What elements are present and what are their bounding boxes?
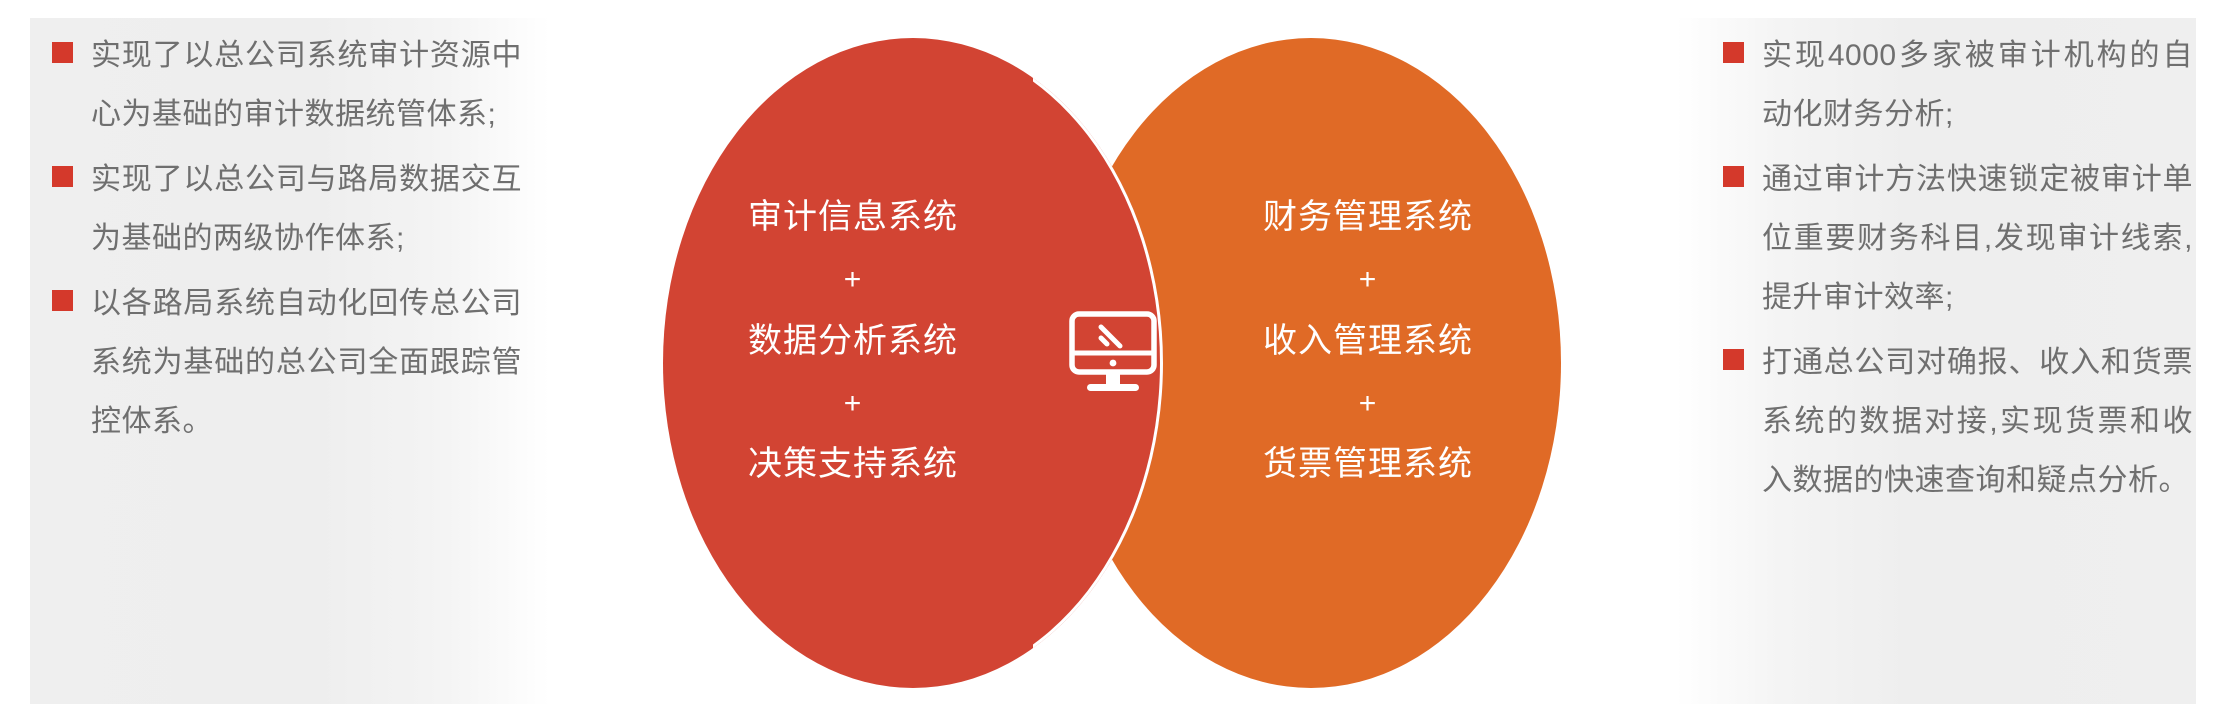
bullet-square-icon <box>52 166 73 187</box>
right-circle-line-1: 财务管理系统 <box>1263 198 1473 236</box>
left-circle-line-1: 审计信息系统 <box>748 198 958 236</box>
bullet-square-icon <box>52 42 73 63</box>
right-circle-label: 财务管理系统 + 收入管理系统 + 货票管理系统 <box>1158 198 1578 484</box>
plus-separator: + <box>643 263 1063 298</box>
plus-separator: + <box>643 387 1063 422</box>
bullet-text: 实现了以总公司系统审计资源中心为基础的审计数据统管体系; <box>91 26 522 144</box>
bullet-square-icon <box>1723 166 1744 187</box>
list-item: 打通总公司对确报、收入和货票系统的数据对接,实现货票和收入数据的快速查询和疑点分… <box>1723 333 2193 510</box>
bullet-text: 通过审计方法快速锁定被审计单位重要财务科目,发现审计线索,提升审计效率; <box>1762 150 2193 327</box>
left-circle-line-3: 决策支持系统 <box>748 445 958 483</box>
list-item: 实现4000多家被审计机构的自动化财务分析; <box>1723 26 2193 144</box>
left-bullet-list: 实现了以总公司系统审计资源中心为基础的审计数据统管体系; 实现了以总公司与路局数… <box>52 26 522 706</box>
right-circle-line-3: 货票管理系统 <box>1263 445 1473 483</box>
left-circle-label: 审计信息系统 + 数据分析系统 + 决策支持系统 <box>643 198 1063 484</box>
venn-diagram: 审计信息系统 + 数据分析系统 + 决策支持系统 财务管理系统 + 收入管理系统… <box>613 38 1613 688</box>
list-item: 通过审计方法快速锁定被审计单位重要财务科目,发现审计线索,提升审计效率; <box>1723 150 2193 327</box>
plus-separator: + <box>1158 263 1578 298</box>
left-circle-line-2: 数据分析系统 <box>748 322 958 360</box>
list-item: 以各路局系统自动化回传总公司系统为基础的总公司全面跟踪管控体系。 <box>52 274 522 451</box>
bullet-square-icon <box>1723 349 1744 370</box>
monitor-icon <box>1068 310 1158 396</box>
bullet-square-icon <box>1723 42 1744 63</box>
right-bullet-list: 实现4000多家被审计机构的自动化财务分析; 通过审计方法快速锁定被审计单位重要… <box>1723 26 2193 706</box>
bullet-text: 实现4000多家被审计机构的自动化财务分析; <box>1762 26 2193 144</box>
bullet-text: 实现了以总公司与路局数据交互为基础的两级协作体系; <box>91 150 522 268</box>
list-item: 实现了以总公司系统审计资源中心为基础的审计数据统管体系; <box>52 26 522 144</box>
bullet-text: 以各路局系统自动化回传总公司系统为基础的总公司全面跟踪管控体系。 <box>91 274 522 451</box>
bullet-square-icon <box>52 290 73 311</box>
venn-infographic: 实现了以总公司系统审计资源中心为基础的审计数据统管体系; 实现了以总公司与路局数… <box>0 0 2226 722</box>
list-item: 实现了以总公司与路局数据交互为基础的两级协作体系; <box>52 150 522 268</box>
plus-separator: + <box>1158 387 1578 422</box>
bullet-text: 打通总公司对确报、收入和货票系统的数据对接,实现货票和收入数据的快速查询和疑点分… <box>1762 333 2193 510</box>
right-circle-line-2: 收入管理系统 <box>1263 322 1473 360</box>
